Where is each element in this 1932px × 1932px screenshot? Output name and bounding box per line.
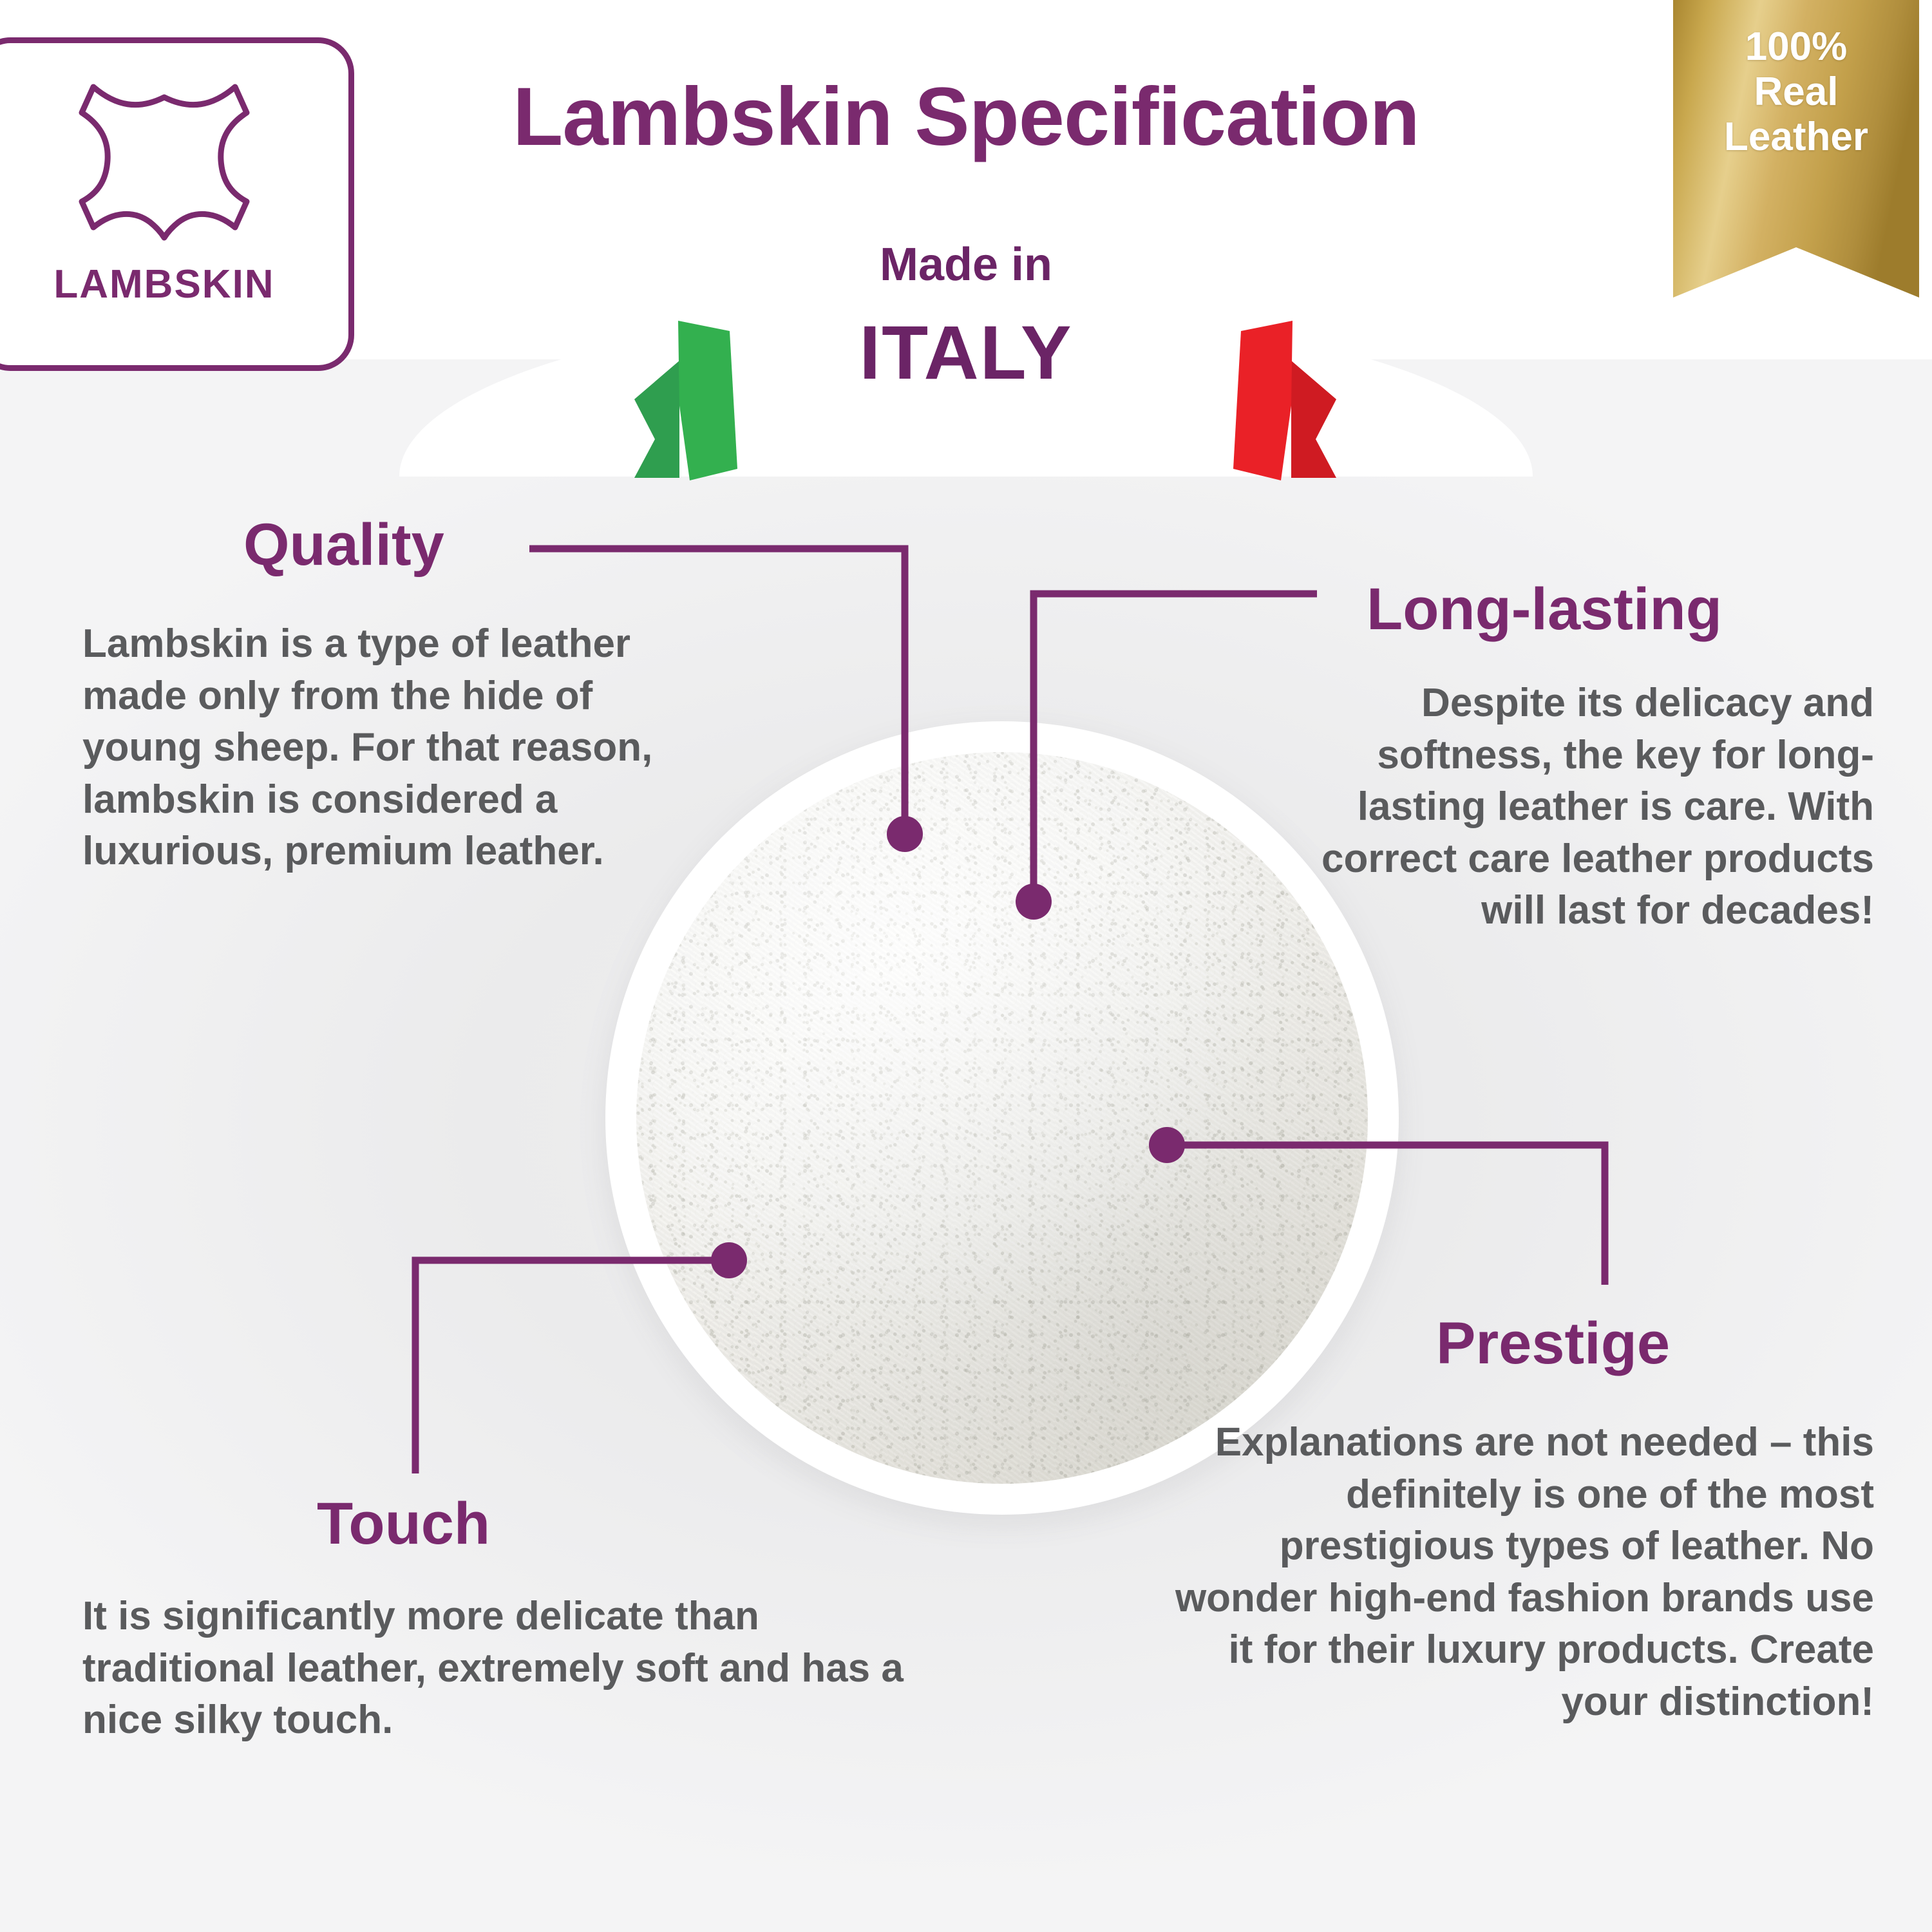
section-title-prestige: Prestige [1436,1314,1670,1373]
page-title: Lambskin Specification [399,76,1533,158]
real-leather-badge: 100% Real Leather [1673,0,1919,298]
leather-shading-layer [636,752,1368,1484]
made-in-label: Made in [708,238,1224,291]
section-body-quality: Lambskin is a type of leather made only … [82,618,675,878]
section-body-touch: It is significantly more delicate than t… [82,1591,939,1747]
logo-wordmark: LAMBSKIN [53,261,274,307]
section-title-quality: Quality [243,515,444,574]
leather-swatch-image [636,752,1368,1484]
leather-swatch-ring [605,721,1399,1515]
badge-line-1: 100% [1673,24,1919,70]
badge-line-3: Leather [1673,115,1919,160]
badge-text: 100% Real Leather [1673,24,1919,160]
section-body-prestige: Explanations are not needed – this defin… [1146,1417,1874,1728]
leather-hide-icon [68,73,261,250]
section-title-touch: Touch [317,1494,490,1553]
infographic-canvas: LAMBSKIN Lambskin Specification Made in … [0,0,1932,1932]
country-label: ITALY [708,309,1224,397]
badge-line-2: Real [1673,70,1919,115]
section-title-longlasting: Long-lasting [1367,580,1722,639]
lambskin-logo-box: LAMBSKIN [0,37,354,371]
section-body-longlasting: Despite its delicacy and softness, the k… [1282,677,1874,937]
